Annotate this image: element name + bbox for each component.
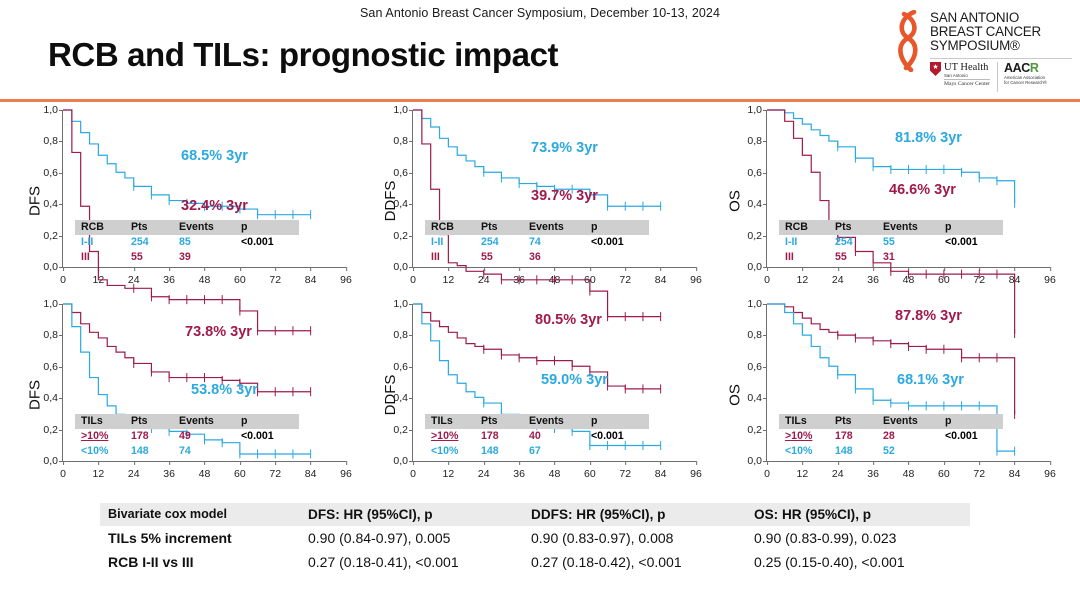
legend-cell-p: <0.001 xyxy=(241,429,299,444)
legend-row: III5539 xyxy=(75,250,299,265)
survival-rate-annotation: 68.5% 3yr xyxy=(181,148,248,164)
survival-rate-annotation: 53.8% 3yr xyxy=(191,382,258,398)
title-divider xyxy=(0,99,1080,102)
bivariate-cox-table: Bivariate cox model DFS: HR (95%CI), p D… xyxy=(100,503,970,574)
cell-rcb-os: 0.25 (0.15-0.40), <0.001 xyxy=(746,550,969,574)
legend-cell-group: III xyxy=(779,250,835,265)
y-tick-label: 0,6 xyxy=(43,167,63,179)
legend-col-header: Events xyxy=(883,220,945,235)
plot-area: 0,00,20,40,60,81,00122436486072849680.5%… xyxy=(412,304,696,462)
survival-rate-annotation: 87.8% 3yr xyxy=(895,308,962,324)
survival-rate-annotation: 80.5% 3yr xyxy=(535,312,602,328)
legend-row: III5536 xyxy=(425,250,649,265)
legend-cell-p xyxy=(241,444,299,459)
col-header-ddfs: DDFS: HR (95%CI), p xyxy=(523,503,746,526)
legend-cell-p: <0.001 xyxy=(241,235,299,250)
legend-cell-p xyxy=(591,250,649,265)
y-axis-label: DFS xyxy=(27,380,44,410)
legend-row: <10%14867 xyxy=(425,444,649,459)
legend-row: >10%17828<0.001 xyxy=(779,429,1003,444)
legend-col-header: RCB xyxy=(779,220,835,235)
legend-cell-events: 74 xyxy=(529,235,591,250)
sabcs-ribbon-icon xyxy=(892,10,928,72)
aacr-logo: AACR American Association for Cancer Res… xyxy=(997,62,1047,92)
table-row: RCB I-II vs III 0.27 (0.18-0.41), <0.001… xyxy=(100,550,970,574)
y-tick-label: 1,0 xyxy=(747,298,767,310)
legend-cell-group: >10% xyxy=(779,429,835,444)
plot-area: 0,00,20,40,60,81,00122436486072849673.8%… xyxy=(62,304,346,462)
legend-col-header: Events xyxy=(529,220,591,235)
ut-health-logo: ★ UT Health San Antonio Mays Cancer Cent… xyxy=(930,62,990,92)
survival-rate-annotation: 73.9% 3yr xyxy=(531,140,598,156)
legend-row: <10%14874 xyxy=(75,444,299,459)
legend-cell-pts: 254 xyxy=(835,235,883,250)
legend-header-row: TILsPtsEventsp xyxy=(425,414,649,429)
y-tick-label: 1,0 xyxy=(747,104,767,116)
legend-header-row: TILsPtsEventsp xyxy=(75,414,299,429)
survival-rate-annotation: 39.7% 3yr xyxy=(531,188,598,204)
y-tick-label: 0,8 xyxy=(393,135,413,147)
legend-col-header: p xyxy=(241,220,299,235)
legend-cell-pts: 148 xyxy=(481,444,529,459)
legend-cell-group: <10% xyxy=(75,444,131,459)
legend-col-header: Events xyxy=(883,414,945,429)
y-tick-label: 0,4 xyxy=(393,198,413,210)
y-tick-label: 0,8 xyxy=(747,135,767,147)
legend-col-header: Events xyxy=(529,414,591,429)
legend-cell-pts: 178 xyxy=(481,429,529,444)
y-tick-label: 0,4 xyxy=(393,392,413,404)
y-tick-label: 0,4 xyxy=(747,392,767,404)
legend-cell-group: I-II xyxy=(75,235,131,250)
legend-cell-events: 40 xyxy=(529,429,591,444)
ut-health-label: UT Health xyxy=(944,62,990,73)
plot-area: 0,00,20,40,60,81,00122436486072849673.9%… xyxy=(412,110,696,268)
legend-cell-group: >10% xyxy=(425,429,481,444)
legend-cell-pts: 178 xyxy=(835,429,883,444)
legend-row: <10%14852 xyxy=(779,444,1003,459)
logo-line-1: SAN ANTONIO xyxy=(930,11,1072,25)
y-tick-label: 0,2 xyxy=(43,424,63,436)
ut-shield-icon: ★ xyxy=(930,62,941,76)
row-label-tils: TILs 5% increment xyxy=(100,526,300,550)
y-tick-label: 1,0 xyxy=(393,104,413,116)
y-tick-label: 0,4 xyxy=(747,198,767,210)
row-label-rcb: RCB I-II vs III xyxy=(100,550,300,574)
col-header-os: OS: HR (95%CI), p xyxy=(746,503,969,526)
legend-cell-events: 55 xyxy=(883,235,945,250)
risk-legend-table: TILsPtsEventsp>10%17849<0.001<10%14874 xyxy=(75,414,299,459)
plot-area: 0,00,20,40,60,81,00122436486072849668.5%… xyxy=(62,110,346,268)
legend-row: I-II25455<0.001 xyxy=(779,235,1003,250)
y-tick-label: 0,2 xyxy=(393,230,413,242)
y-tick-label: 1,0 xyxy=(43,298,63,310)
risk-legend-table: RCBPtsEventspI-II25474<0.001III5536 xyxy=(425,220,649,265)
legend-cell-events: 31 xyxy=(883,250,945,265)
y-tick-label: 0,4 xyxy=(43,198,63,210)
plot-area: 0,00,20,40,60,81,00122436486072849681.8%… xyxy=(766,110,1050,268)
table-row: TILs 5% increment 0.90 (0.84-0.97), 0.00… xyxy=(100,526,970,550)
legend-col-header: Events xyxy=(179,414,241,429)
y-tick-label: 0,4 xyxy=(43,392,63,404)
y-tick-label: 0,6 xyxy=(43,361,63,373)
ut-health-center: Mays Cancer Center xyxy=(944,79,990,88)
aacr-label: AACR xyxy=(1004,62,1047,75)
risk-legend-table: RCBPtsEventspI-II25485<0.001III5539 xyxy=(75,220,299,265)
legend-cell-events: 85 xyxy=(179,235,241,250)
clipped-footnote xyxy=(105,589,965,595)
ut-health-city: San Antonio xyxy=(944,73,990,78)
y-tick-label: 0,2 xyxy=(747,230,767,242)
legend-col-header: Events xyxy=(179,220,241,235)
survival-rate-annotation: 59.0% 3yr xyxy=(541,372,608,388)
risk-legend-table: RCBPtsEventspI-II25455<0.001III5531 xyxy=(779,220,1003,265)
chart-panel-tils-os: OS0,00,20,40,60,81,00122436486072849687.… xyxy=(722,300,1052,490)
legend-col-header: Pts xyxy=(835,414,883,429)
legend-col-header: Pts xyxy=(131,414,179,429)
legend-cell-events: 74 xyxy=(179,444,241,459)
legend-cell-events: 28 xyxy=(883,429,945,444)
legend-cell-p: <0.001 xyxy=(945,235,1003,250)
legend-cell-pts: 55 xyxy=(835,250,883,265)
legend-cell-group: <10% xyxy=(779,444,835,459)
cell-rcb-ddfs: 0.27 (0.18-0.42), <0.001 xyxy=(523,550,746,574)
legend-header-row: RCBPtsEventsp xyxy=(425,220,649,235)
sabcs-logo: SAN ANTONIO BREAST CANCER SYMPOSIUM® ★ U… xyxy=(892,8,1072,92)
y-tick-label: 0,6 xyxy=(393,361,413,373)
chart-panel-tils-ddfs: DDFS0,00,20,40,60,81,0012243648607284968… xyxy=(368,300,698,490)
legend-row: >10%17849<0.001 xyxy=(75,429,299,444)
col-header-model: Bivariate cox model xyxy=(100,503,300,526)
y-tick-label: 0,8 xyxy=(747,329,767,341)
legend-cell-group: <10% xyxy=(425,444,481,459)
legend-cell-pts: 254 xyxy=(131,235,179,250)
cell-rcb-dfs: 0.27 (0.18-0.41), <0.001 xyxy=(300,550,523,574)
legend-cell-events: 36 xyxy=(529,250,591,265)
y-axis-label: OS xyxy=(726,384,743,406)
legend-col-header: p xyxy=(945,220,1003,235)
legend-col-header: TILs xyxy=(425,414,481,429)
table-header-row: Bivariate cox model DFS: HR (95%CI), p D… xyxy=(100,503,970,526)
y-axis-label: OS xyxy=(726,190,743,212)
slide-root: San Antonio Breast Cancer Symposium, Dec… xyxy=(0,0,1080,595)
chart-panel-rcb-dfs: DFS0,00,20,40,60,81,00122436486072849668… xyxy=(18,106,348,296)
legend-cell-group: I-II xyxy=(779,235,835,250)
legend-cell-group: >10% xyxy=(75,429,131,444)
legend-cell-p xyxy=(241,250,299,265)
chart-panel-tils-dfs: DFS0,00,20,40,60,81,00122436486072849673… xyxy=(18,300,348,490)
legend-col-header: Pts xyxy=(835,220,883,235)
legend-col-header: RCB xyxy=(425,220,481,235)
legend-cell-p xyxy=(945,444,1003,459)
y-tick-label: 0,8 xyxy=(43,135,63,147)
legend-header-row: RCBPtsEventsp xyxy=(75,220,299,235)
chart-panel-rcb-os: OS0,00,20,40,60,81,00122436486072849681.… xyxy=(722,106,1052,296)
y-tick-label: 0,6 xyxy=(747,361,767,373)
legend-col-header: RCB xyxy=(75,220,131,235)
y-tick-label: 0,8 xyxy=(43,329,63,341)
survival-rate-annotation: 46.6% 3yr xyxy=(889,182,956,198)
legend-cell-pts: 148 xyxy=(835,444,883,459)
cell-tils-ddfs: 0.90 (0.83-0.97), 0.008 xyxy=(523,526,746,550)
legend-row: III5531 xyxy=(779,250,1003,265)
legend-cell-group: III xyxy=(425,250,481,265)
legend-cell-events: 52 xyxy=(883,444,945,459)
legend-cell-group: III xyxy=(75,250,131,265)
legend-cell-p: <0.001 xyxy=(591,235,649,250)
legend-col-header: TILs xyxy=(75,414,131,429)
km-curve-10 xyxy=(767,304,1015,414)
legend-cell-p: <0.001 xyxy=(591,429,649,444)
survival-rate-annotation: 73.8% 3yr xyxy=(185,324,252,340)
y-tick-label: 1,0 xyxy=(43,104,63,116)
legend-cell-pts: 55 xyxy=(481,250,529,265)
legend-col-header: p xyxy=(241,414,299,429)
legend-col-header: p xyxy=(945,414,1003,429)
legend-cell-events: 39 xyxy=(179,250,241,265)
y-tick-label: 0,2 xyxy=(43,230,63,242)
legend-row: I-II25474<0.001 xyxy=(425,235,649,250)
page-title: RCB and TILs: prognostic impact xyxy=(48,36,558,74)
legend-row: >10%17840<0.001 xyxy=(425,429,649,444)
plot-area: 0,00,20,40,60,81,00122436486072849687.8%… xyxy=(766,304,1050,462)
legend-header-row: RCBPtsEventsp xyxy=(779,220,1003,235)
y-tick-label: 0,2 xyxy=(393,424,413,436)
legend-cell-p: <0.001 xyxy=(945,429,1003,444)
legend-cell-events: 67 xyxy=(529,444,591,459)
col-header-dfs: DFS: HR (95%CI), p xyxy=(300,503,523,526)
y-tick-label: 1,0 xyxy=(393,298,413,310)
legend-cell-p xyxy=(591,444,649,459)
legend-row: I-II25485<0.001 xyxy=(75,235,299,250)
legend-cell-group: I-II xyxy=(425,235,481,250)
legend-cell-pts: 178 xyxy=(131,429,179,444)
legend-col-header: Pts xyxy=(481,414,529,429)
legend-cell-events: 49 xyxy=(179,429,241,444)
risk-legend-table: TILsPtsEventsp>10%17840<0.001<10%14867 xyxy=(425,414,649,459)
legend-cell-pts: 55 xyxy=(131,250,179,265)
logo-line-2: BREAST CANCER xyxy=(930,25,1072,39)
survival-rate-annotation: 32.4% 3yr xyxy=(181,198,248,214)
legend-col-header: Pts xyxy=(131,220,179,235)
y-tick-label: 0,6 xyxy=(747,167,767,179)
legend-header-row: TILsPtsEventsp xyxy=(779,414,1003,429)
cell-tils-os: 0.90 (0.83-0.99), 0.023 xyxy=(746,526,969,550)
y-axis-label: DFS xyxy=(27,186,44,216)
aacr-sub-2: for Cancer Research® xyxy=(1004,80,1047,85)
y-tick-label: 0,6 xyxy=(393,167,413,179)
logo-line-3: SYMPOSIUM® xyxy=(930,39,1072,53)
legend-col-header: p xyxy=(591,220,649,235)
y-tick-label: 0,8 xyxy=(393,329,413,341)
risk-legend-table: TILsPtsEventsp>10%17828<0.001<10%14852 xyxy=(779,414,1003,459)
y-tick-label: 0,2 xyxy=(747,424,767,436)
chart-panel-rcb-ddfs: DDFS0,00,20,40,60,81,0012243648607284967… xyxy=(368,106,698,296)
legend-cell-pts: 254 xyxy=(481,235,529,250)
survival-rate-annotation: 81.8% 3yr xyxy=(895,130,962,146)
legend-cell-pts: 148 xyxy=(131,444,179,459)
survival-rate-annotation: 68.1% 3yr xyxy=(897,372,964,388)
legend-col-header: Pts xyxy=(481,220,529,235)
legend-cell-p xyxy=(945,250,1003,265)
legend-col-header: TILs xyxy=(779,414,835,429)
cell-tils-dfs: 0.90 (0.84-0.97), 0.005 xyxy=(300,526,523,550)
legend-col-header: p xyxy=(591,414,649,429)
